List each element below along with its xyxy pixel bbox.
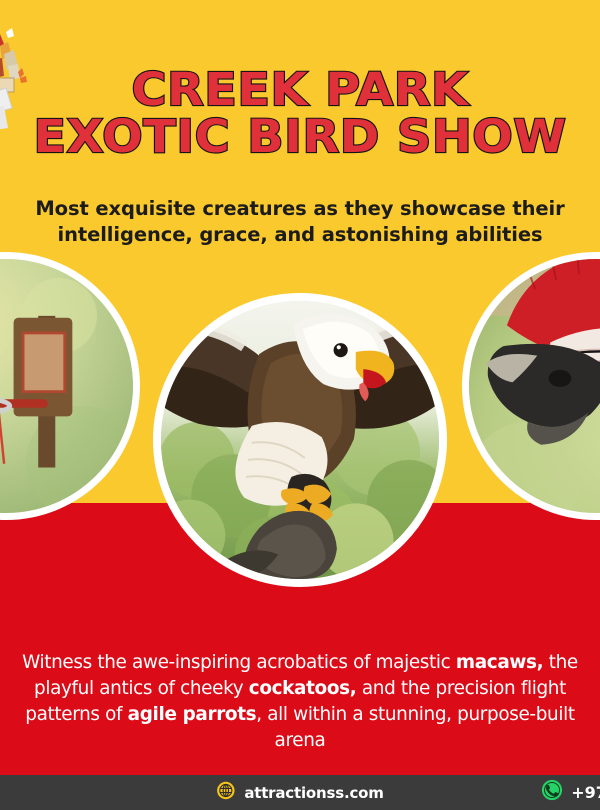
footer-bar: attractionss.com +971 [0,775,600,810]
title-line-1: CREEK PARK [0,68,600,111]
poster-root: CREEK PARK EXOTIC BIRD SHOW Most exquisi… [0,0,600,810]
body-copy-highlight: cockatoos, [249,678,357,699]
globe-icon [216,781,235,805]
body-copy-text: Witness the awe-inspiring acrobatics of … [22,652,456,673]
photo-red-macaw-image [469,259,600,513]
photo-eagle-landing-image [161,301,439,579]
footer-website-group[interactable]: attractionss.com [216,781,383,805]
body-copy-text: , all within a stunning, purpose-built a… [256,704,574,751]
footer-website-label: attractionss.com [244,784,383,802]
body-copy-highlight: macaws, [456,652,543,673]
body-copy: Witness the awe-inspiring acrobatics of … [0,650,600,755]
poster-title: CREEK PARK EXOTIC BIRD SHOW [0,68,600,158]
photo-eagle-landing [153,293,447,587]
title-line-2: EXOTIC BIRD SHOW [0,115,600,158]
footer-phone-label: +971 [571,783,600,802]
body-copy-highlight: agile parrots [128,704,257,725]
footer-phone-group[interactable]: +971 [541,779,600,806]
whatsapp-icon [541,779,563,806]
photo-cockatoo-basketball-image [0,259,133,513]
photo-cockatoo-basketball [0,252,140,520]
photo-red-macaw [462,252,600,520]
poster-subtitle: Most exquisite creatures as they showcas… [0,196,600,247]
